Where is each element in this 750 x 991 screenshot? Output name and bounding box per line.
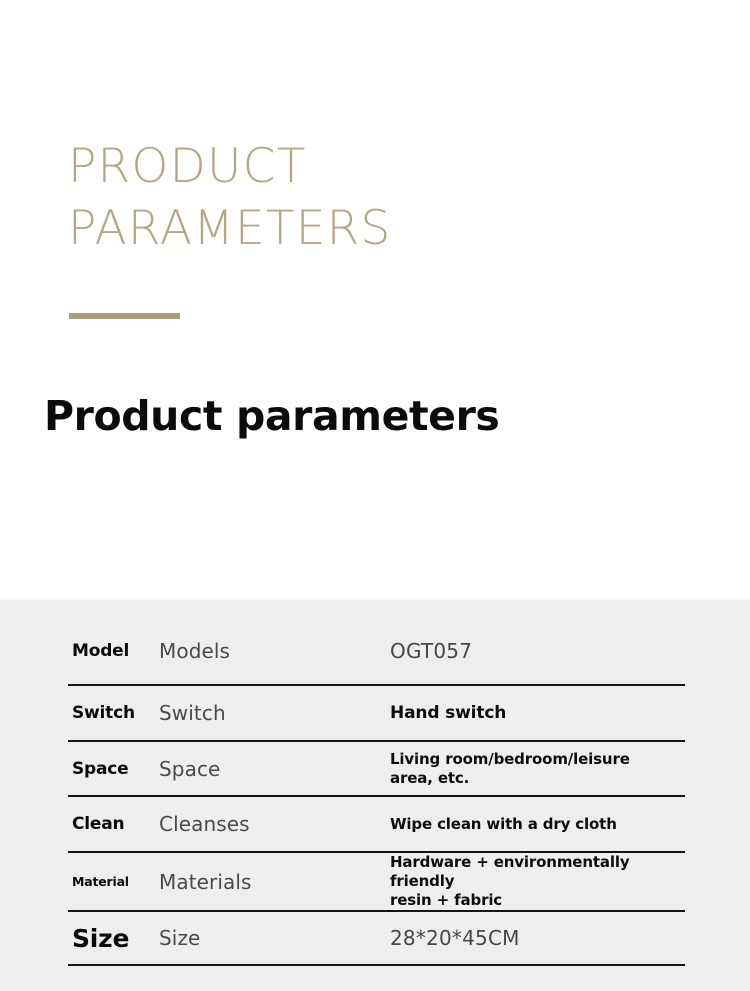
spec-key-material: Material xyxy=(68,874,159,889)
specifications-table: ModelModelsOGT057SwitchSwitchHand switch… xyxy=(68,618,685,966)
spec-value-size: 28*20*45CM xyxy=(390,926,685,950)
banner-title: PRODUCT PARAMETERS xyxy=(68,136,688,260)
spec-key-clean: Clean xyxy=(68,814,159,834)
spec-label-switch: Switch xyxy=(159,701,390,725)
spec-key-space: Space xyxy=(68,759,159,779)
spec-key-size: Size xyxy=(68,925,159,952)
spec-label-space: Space xyxy=(159,757,390,781)
spec-key-switch: Switch xyxy=(68,703,159,723)
spec-value-space: Living room/bedroom/leisure area, etc. xyxy=(390,750,685,788)
spec-label-model: Models xyxy=(159,639,390,663)
hero-section: PRODUCT PARAMETERS Product parameters xyxy=(0,0,750,600)
page-title: Product parameters xyxy=(44,389,499,443)
spec-label-clean: Cleanses xyxy=(159,812,390,836)
spec-row-material: MaterialMaterialsHardware + environmenta… xyxy=(68,853,685,912)
spec-label-material: Materials xyxy=(159,870,390,894)
spec-value-model: OGT057 xyxy=(390,639,685,663)
spec-value-clean: Wipe clean with a dry cloth xyxy=(390,815,685,834)
spec-row-switch: SwitchSwitchHand switch xyxy=(68,686,685,742)
gold-divider-rule xyxy=(69,313,180,319)
spec-row-size: SizeSize28*20*45CM xyxy=(68,912,685,966)
spec-row-space: SpaceSpaceLiving room/bedroom/leisure ar… xyxy=(68,742,685,797)
spec-row-model: ModelModelsOGT057 xyxy=(68,618,685,686)
spec-value-switch: Hand switch xyxy=(390,703,685,724)
spec-label-size: Size xyxy=(159,926,390,950)
spec-row-clean: CleanCleansesWipe clean with a dry cloth xyxy=(68,797,685,853)
spec-key-model: Model xyxy=(68,641,159,661)
specifications-panel: ModelModelsOGT057SwitchSwitchHand switch… xyxy=(0,600,750,991)
spec-value-material: Hardware + environmentally friendly resi… xyxy=(390,853,685,910)
